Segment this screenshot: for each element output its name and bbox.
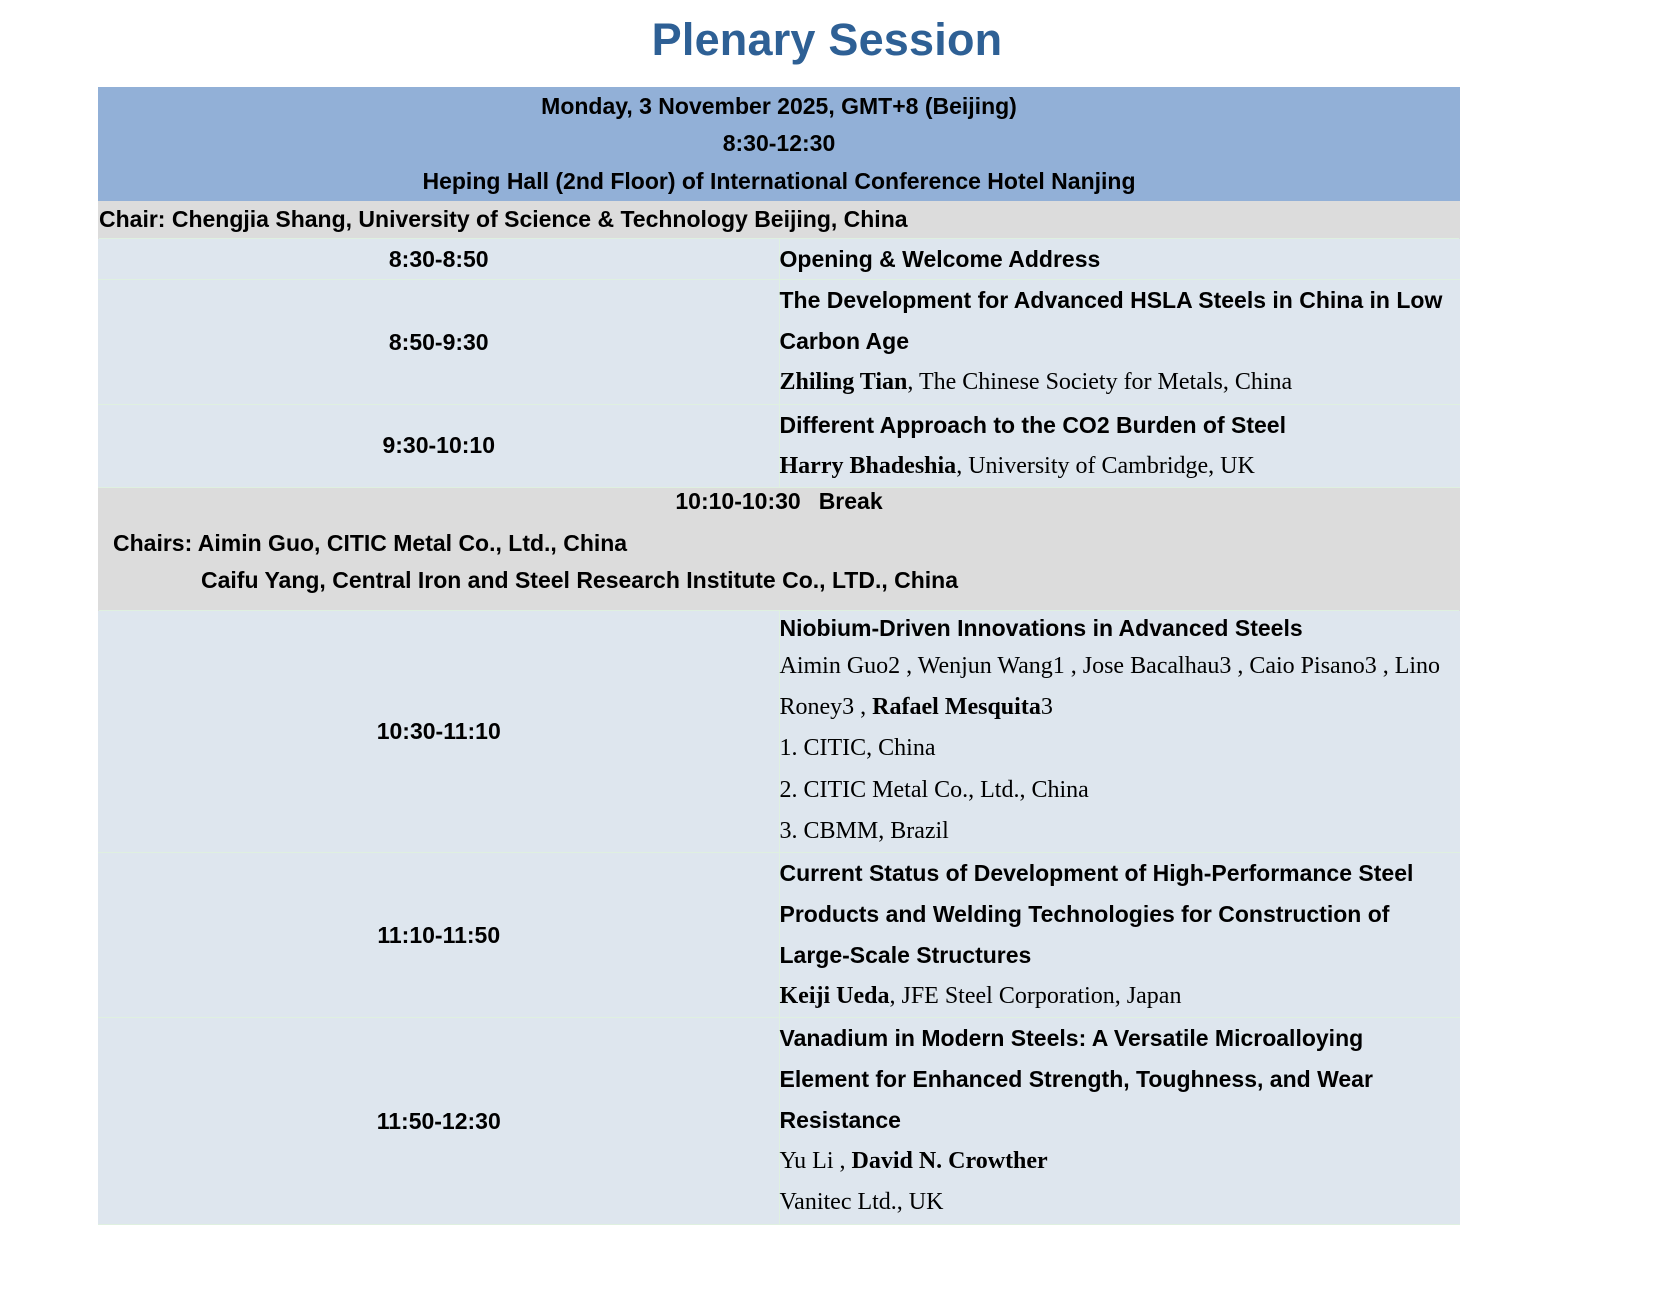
speaker-affiliation: , University of Cambridge, UK: [956, 453, 1255, 479]
session-header-row: Monday, 3 November 2025, GMT+8 (Beijing)…: [99, 88, 1460, 201]
affiliation-line: 2. CITIC Metal Co., Ltd., China: [780, 770, 1460, 811]
break-time: 10:10-10:30: [675, 488, 800, 514]
talk-speaker-line: Keiji Ueda, JFE Steel Corporation, Japan: [780, 976, 1460, 1017]
talk-title: Vanadium in Modern Steels: A Versatile M…: [780, 1018, 1460, 1141]
session-time: 11:10-11:50: [99, 853, 780, 1018]
chair-row-first: Chair: Chengjia Shang, University of Sci…: [99, 200, 1460, 238]
talk-speaker-line: Aimin Guo2 , Wenjun Wang1 , Jose Bacalha…: [780, 646, 1460, 729]
session-detail: Current Status of Development of High-Pe…: [779, 853, 1460, 1018]
table-row: 11:50-12:30 Vanadium in Modern Steels: A…: [99, 1018, 1460, 1224]
talk-speaker-line: Harry Bhadeshia, University of Cambridge…: [780, 446, 1460, 487]
speaker-affiliation: , The Chinese Society for Metals, China: [907, 369, 1292, 395]
session-detail: The Development for Advanced HSLA Steels…: [779, 280, 1460, 404]
table-row: 10:30-11:10 Niobium-Driven Innovations i…: [99, 611, 1460, 853]
affiliation-line: 3. CBMM, Brazil: [780, 811, 1460, 852]
break-cell: 10:10-10:30Break: [99, 487, 1460, 515]
talk-speaker-line: Zhiling Tian, The Chinese Society for Me…: [780, 362, 1460, 403]
session-time: 8:50-9:30: [99, 280, 780, 404]
speaker-name: Keiji Ueda: [780, 983, 890, 1009]
chair-cell-second: Chairs: Aimin Guo, CITIC Metal Co., Ltd.…: [99, 515, 1460, 611]
session-date: Monday, 3 November 2025, GMT+8 (Beijing): [99, 88, 1459, 125]
table-row: 11:10-11:50 Current Status of Developmen…: [99, 853, 1460, 1018]
speaker-name: David N. Crowther: [852, 1148, 1048, 1174]
chair-row-second: Chairs: Aimin Guo, CITIC Metal Co., Ltd.…: [99, 515, 1460, 611]
break-row: 10:10-10:30Break: [99, 487, 1460, 515]
talk-title: Current Status of Development of High-Pe…: [780, 853, 1460, 976]
affiliation-line: Vanitec Ltd., UK: [780, 1182, 1460, 1223]
session-detail: Niobium-Driven Innovations in Advanced S…: [779, 611, 1460, 853]
session-detail: Opening & Welcome Address: [779, 238, 1460, 280]
session-time: 9:30-10:10: [99, 404, 780, 487]
break-label: Break: [819, 488, 883, 514]
talk-title: Opening & Welcome Address: [780, 239, 1460, 280]
speaker-prefix: Yu Li ,: [780, 1148, 852, 1174]
session-time: 10:30-11:10: [99, 611, 780, 853]
speaker-name: Harry Bhadeshia: [780, 453, 957, 479]
talk-title: The Development for Advanced HSLA Steels…: [780, 280, 1460, 362]
table-row: 9:30-10:10 Different Approach to the CO2…: [99, 404, 1460, 487]
table-row: 8:50-9:30 The Development for Advanced H…: [99, 280, 1460, 404]
chair-name-line-1: Chairs: Aimin Guo, CITIC Metal Co., Ltd.…: [113, 525, 1449, 562]
chair-name-line: Chair: Chengjia Shang, University of Sci…: [99, 201, 1459, 238]
session-venue: Heping Hall (2nd Floor) of International…: [99, 163, 1459, 200]
chair-cell-first: Chair: Chengjia Shang, University of Sci…: [99, 200, 1460, 238]
session-detail: Vanadium in Modern Steels: A Versatile M…: [779, 1018, 1460, 1224]
speaker-affiliation: , JFE Steel Corporation, Japan: [889, 983, 1181, 1009]
session-detail: Different Approach to the CO2 Burden of …: [779, 404, 1460, 487]
session-header-cell: Monday, 3 November 2025, GMT+8 (Beijing)…: [99, 88, 1460, 201]
session-time: 8:30-8:50: [99, 238, 780, 280]
talk-speaker-line: Yu Li , David N. Crowther: [780, 1141, 1460, 1182]
talk-title: Niobium-Driven Innovations in Advanced S…: [780, 611, 1460, 646]
session-time-range: 8:30-12:30: [99, 125, 1459, 162]
program-page: Plenary Session Monday, 3 November 2025,…: [0, 0, 1654, 1311]
plenary-schedule-table: Monday, 3 November 2025, GMT+8 (Beijing)…: [98, 87, 1460, 1225]
affiliation-line: 1. CITIC, China: [780, 728, 1460, 769]
table-row: 8:30-8:50 Opening & Welcome Address: [99, 238, 1460, 280]
talk-title: Different Approach to the CO2 Burden of …: [780, 405, 1460, 446]
speaker-suffix: 3: [1041, 694, 1053, 720]
speaker-name: Zhiling Tian: [780, 369, 908, 395]
chair-name-line-2: Caifu Yang, Central Iron and Steel Resea…: [113, 562, 1449, 599]
session-time: 11:50-12:30: [99, 1018, 780, 1224]
page-title: Plenary Session: [0, 0, 1654, 66]
schedule-table: Monday, 3 November 2025, GMT+8 (Beijing)…: [98, 87, 1460, 1225]
speaker-name: Rafael Mesquita: [872, 694, 1041, 720]
